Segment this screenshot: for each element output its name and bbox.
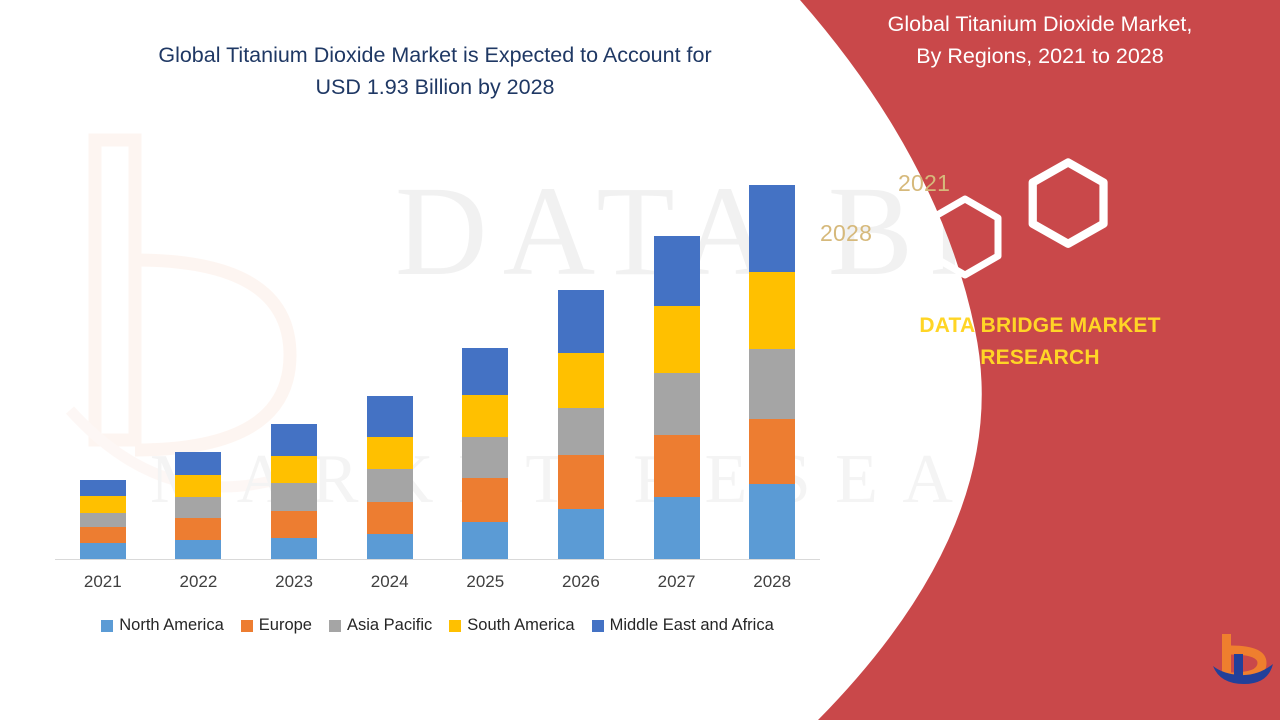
infographic-canvas: DATA BRIDGE MARKET RESEARCH Global Titan… [0,0,1280,720]
x-axis-tick-labels: 20212022202320242025202620272028 [55,572,820,600]
legend-swatch-icon [241,620,253,632]
brand-name-line-2: RESEARCH [830,342,1250,374]
chart-legend: North AmericaEuropeAsia PacificSouth Ame… [55,616,820,635]
legend-label: North America [119,616,224,635]
bar-segment[interactable] [462,522,508,559]
bar-segment[interactable] [749,484,795,559]
x-axis-label-2023: 2023 [259,572,329,592]
legend-swatch-icon [101,620,113,632]
bar-segment[interactable] [462,478,508,522]
bar-segment[interactable] [654,373,700,435]
bar-segment[interactable] [271,538,317,559]
bar-segment[interactable] [367,396,413,437]
bar-segment[interactable] [271,483,317,511]
bar-segment[interactable] [558,455,604,509]
x-axis-label-2024: 2024 [355,572,425,592]
legend-label: Middle East and Africa [610,616,774,635]
bar-segment[interactable] [80,543,126,559]
x-axis-label-2022: 2022 [163,572,233,592]
bar-segment[interactable] [654,236,700,306]
logo-mark-icon [1210,630,1280,692]
bar-group-2021[interactable] [80,480,126,559]
bar-segment[interactable] [367,469,413,502]
bar-segment[interactable] [367,437,413,469]
panel-title-line-1: Global Titanium Dioxide Market, [830,8,1250,40]
company-logo: DATA BRIDGE MARKET RESEARCH [1210,630,1280,700]
bar-segment[interactable] [558,408,604,455]
bar-segment[interactable] [462,437,508,478]
bar-segment[interactable] [175,540,221,559]
bar-group-2025[interactable] [462,348,508,559]
x-axis-line [55,559,820,560]
panel-title: Global Titanium Dioxide Market, By Regio… [830,8,1250,73]
bar-segment[interactable] [175,452,221,475]
hexagon-2021-label: 2021 [898,170,950,197]
hexagon-2021-outline [1033,162,1104,243]
chart-plot-area [55,150,820,560]
bar-group-2022[interactable] [175,452,221,559]
legend-label: South America [467,616,574,635]
page-title: Global Titanium Dioxide Market is Expect… [60,40,810,104]
bar-segment[interactable] [749,272,795,349]
legend-item[interactable]: South America [449,616,574,635]
bar-segment[interactable] [367,502,413,534]
bar-segment[interactable] [654,435,700,497]
bar-segment[interactable] [80,496,126,513]
legend-label: Europe [259,616,312,635]
hexagon-2028-label: 2028 [820,220,872,247]
x-axis-label-2025: 2025 [450,572,520,592]
page-title-line-1: Global Titanium Dioxide Market is Expect… [60,40,810,72]
bar-segment[interactable] [80,513,126,527]
bar-segment[interactable] [654,306,700,373]
hexagon-badges [910,140,1110,290]
legend-item[interactable]: Asia Pacific [329,616,432,635]
x-axis-label-2026: 2026 [546,572,616,592]
legend-label: Asia Pacific [347,616,432,635]
bar-segment[interactable] [749,349,795,419]
hexagon-2028-outline [932,199,998,275]
bar-segment[interactable] [558,290,604,353]
bar-segment[interactable] [367,534,413,559]
bar-segment[interactable] [462,348,508,395]
bar-segment[interactable] [271,456,317,483]
bar-segment[interactable] [80,480,126,496]
bar-segment[interactable] [80,527,126,543]
bar-segment[interactable] [175,475,221,497]
legend-item[interactable]: Europe [241,616,312,635]
x-axis-label-2021: 2021 [68,572,138,592]
bar-segment[interactable] [558,353,604,408]
bar-segment[interactable] [271,511,317,538]
legend-swatch-icon [592,620,604,632]
bar-segment[interactable] [749,419,795,484]
legend-item[interactable]: North America [101,616,224,635]
legend-swatch-icon [449,620,461,632]
bar-segment[interactable] [749,185,795,272]
bar-group-2028[interactable] [749,185,795,559]
x-axis-label-2028: 2028 [737,572,807,592]
panel-title-line-2: By Regions, 2021 to 2028 [830,40,1250,72]
brand-name: DATA BRIDGE MARKET RESEARCH [830,310,1250,373]
page-title-line-2: USD 1.93 Billion by 2028 [60,72,810,104]
bar-segment[interactable] [175,518,221,540]
right-panel-content: Global Titanium Dioxide Market, By Regio… [800,0,1280,720]
brand-name-line-1: DATA BRIDGE MARKET [830,310,1250,342]
bar-segment[interactable] [271,424,317,456]
bar-segment[interactable] [558,509,604,559]
legend-swatch-icon [329,620,341,632]
bar-group-2027[interactable] [654,236,700,559]
legend-item[interactable]: Middle East and Africa [592,616,774,635]
bar-segment[interactable] [462,395,508,437]
bar-segment[interactable] [175,497,221,518]
bar-segment[interactable] [654,497,700,559]
bar-group-2024[interactable] [367,396,413,559]
bar-group-2023[interactable] [271,424,317,559]
x-axis-label-2027: 2027 [642,572,712,592]
bar-group-2026[interactable] [558,290,604,559]
